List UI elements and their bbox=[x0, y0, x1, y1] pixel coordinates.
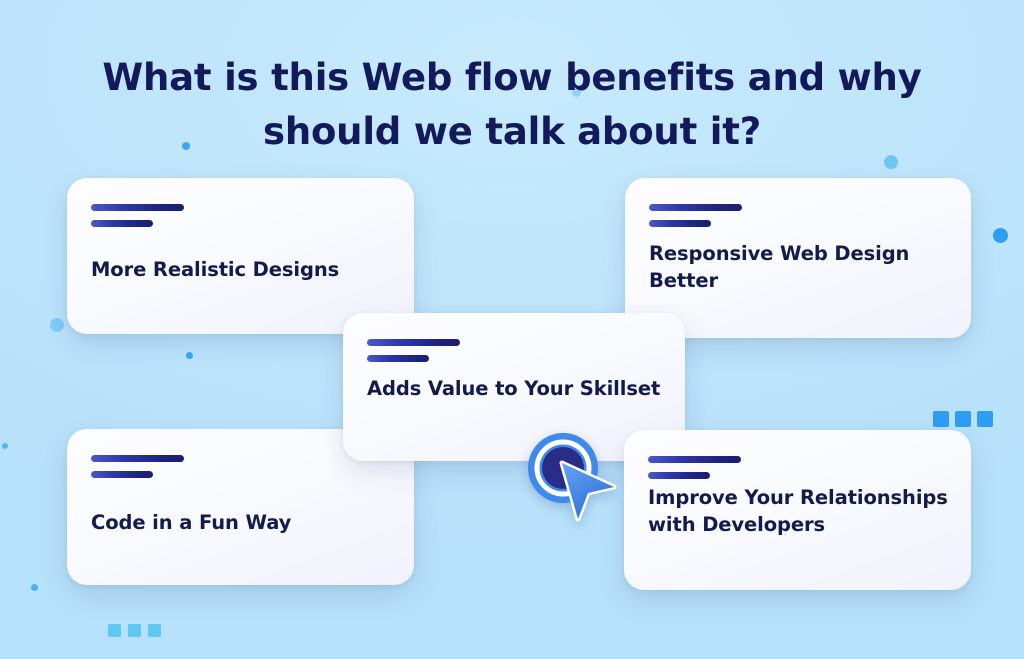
card-accent-bars bbox=[367, 339, 460, 362]
square-decor bbox=[148, 624, 161, 637]
accent-bar-long bbox=[91, 204, 184, 211]
card-accent-bars bbox=[91, 204, 184, 227]
page-title-line-1: What is this Web flow benefits and why bbox=[70, 51, 954, 105]
card-accent-bars bbox=[649, 204, 742, 227]
squares-right bbox=[933, 411, 993, 427]
slide-canvas: What is this Web flow benefits and why s… bbox=[0, 0, 1024, 659]
accent-bar-long bbox=[367, 339, 460, 346]
accent-bar-short bbox=[91, 220, 153, 227]
accent-bar-short bbox=[367, 355, 429, 362]
benefit-card-title: Code in a Fun Way bbox=[91, 509, 392, 536]
click-cursor-icon bbox=[518, 427, 618, 523]
page-title: What is this Web flow benefits and why s… bbox=[0, 51, 1024, 159]
benefit-card-title: More Realistic Designs bbox=[91, 256, 392, 283]
dot-mid-left-icon bbox=[2, 443, 8, 449]
card-accent-bars bbox=[91, 455, 184, 478]
squares-bottom-left bbox=[108, 624, 161, 637]
dot-bottom-left-icon bbox=[31, 584, 38, 591]
accent-bar-long bbox=[648, 456, 741, 463]
accent-bar-long bbox=[91, 455, 184, 462]
square-decor bbox=[955, 411, 971, 427]
accent-bar-short bbox=[91, 471, 153, 478]
page-title-line-2: should we talk about it? bbox=[70, 105, 954, 159]
benefit-card-title: Adds Value to Your Skillset bbox=[367, 375, 663, 402]
accent-bar-short bbox=[649, 220, 711, 227]
square-decor bbox=[128, 624, 141, 637]
square-decor bbox=[108, 624, 121, 637]
benefit-card-more-realistic-designs[interactable]: More Realistic Designs bbox=[67, 178, 414, 334]
card-accent-bars bbox=[648, 456, 741, 479]
dot-right-icon bbox=[993, 228, 1008, 243]
accent-bar-long bbox=[649, 204, 742, 211]
square-decor bbox=[933, 411, 949, 427]
benefit-card-title: Responsive Web Design Better bbox=[649, 240, 949, 294]
square-decor bbox=[977, 411, 993, 427]
dot-left-mid-icon bbox=[50, 318, 64, 332]
dot-left-lower-icon bbox=[186, 352, 193, 359]
benefit-card-responsive-web-design-better[interactable]: Responsive Web Design Better bbox=[625, 178, 971, 338]
benefit-card-title: Improve Your Relationships with Develope… bbox=[648, 484, 949, 538]
benefit-card-improve-relationships-with-developers[interactable]: Improve Your Relationships with Develope… bbox=[624, 430, 971, 590]
accent-bar-short bbox=[648, 472, 710, 479]
